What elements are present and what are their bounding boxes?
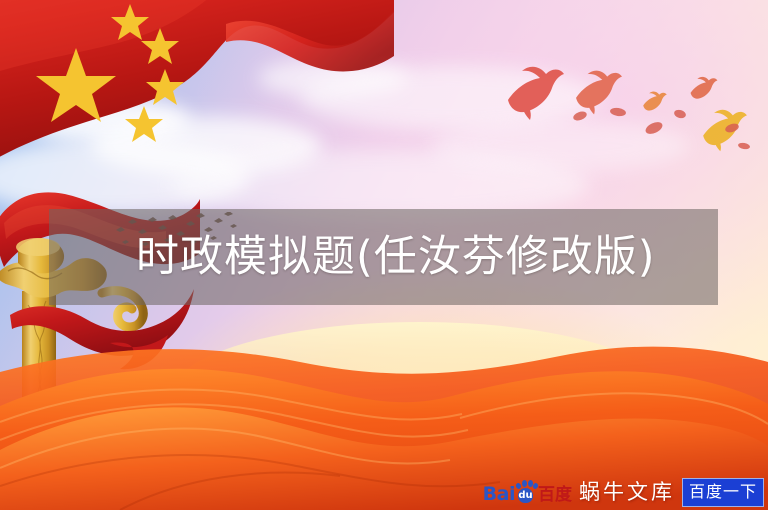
paw-pad: du [518,488,533,503]
flying-birds-icon [486,44,768,164]
branding-bar: Bai du 百度 蜗牛文库 百度一下 [483,477,764,507]
china-flag-icon [0,0,394,170]
poster-canvas: 时政模拟题(任汝芬修改版) Bai du 百度 蜗牛文库 百度一下 [0,0,768,510]
baidu-logo-latin: Bai [483,485,515,504]
baidu-logo-chinese: 百度 [538,487,572,504]
paw-toe [522,480,527,487]
baidu-logo[interactable]: Bai du 百度 [483,480,572,504]
site-name-watermark: 蜗牛文库 [579,482,675,503]
baidu-paw-icon: du [514,480,537,504]
title-banner: 时政模拟题(任汝芬修改版) [49,209,718,305]
baidu-search-button[interactable]: 百度一下 [682,478,764,507]
baidu-paw-text: du [518,491,532,501]
page-title: 时政模拟题(任汝芬修改版) [49,236,656,279]
